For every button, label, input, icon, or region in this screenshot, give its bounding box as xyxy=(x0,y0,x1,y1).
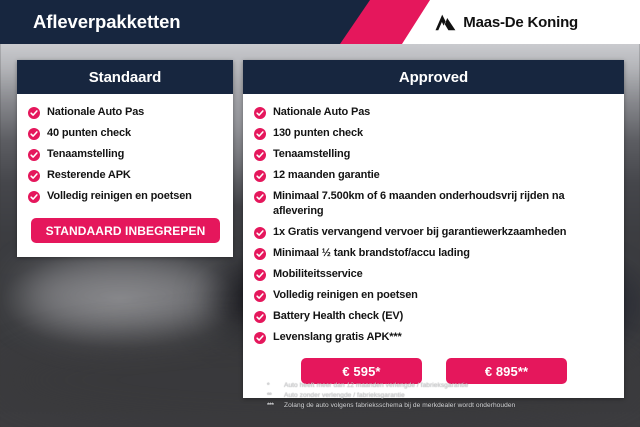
check-circle-icon xyxy=(254,227,266,239)
check-circle-icon xyxy=(254,269,266,281)
check-circle-icon xyxy=(254,311,266,323)
list-item: Tenaamstelling xyxy=(254,147,614,162)
footnote-marker: * xyxy=(267,381,284,391)
card-approved-header: Approved xyxy=(243,60,624,94)
check-circle-icon xyxy=(254,191,266,203)
feature-label: Minimaal 7.500km of 6 maanden onderhouds… xyxy=(273,189,614,219)
standaard-inbegrepen-button[interactable]: STANDAARD INBEGREPEN xyxy=(31,218,220,243)
check-circle-icon xyxy=(254,128,266,140)
brand-name: Maas-De Koning xyxy=(463,14,578,31)
footnotes-block: * Auto heeft meer dan 12 maanden verleng… xyxy=(267,381,627,412)
check-circle-icon xyxy=(28,191,40,203)
feature-label: Resterende APK xyxy=(47,168,131,183)
check-circle-icon xyxy=(254,332,266,344)
list-item: 130 punten check xyxy=(254,126,614,141)
maas-de-koning-m-mark-icon xyxy=(435,14,456,31)
feature-label: Tenaamstelling xyxy=(273,147,350,162)
footnote-marker: ** xyxy=(267,391,284,401)
check-circle-icon xyxy=(28,170,40,182)
card-standaard-body: Nationale Auto Pas 40 punten check Tenaa… xyxy=(17,94,233,257)
feature-label: Mobiliteitsservice xyxy=(273,267,363,282)
feature-label: Minimaal ½ tank brandstof/accu lading xyxy=(273,246,470,261)
feature-label: Volledig reinigen en poetsen xyxy=(273,288,418,303)
feature-label: Nationale Auto Pas xyxy=(273,105,370,120)
list-item: Nationale Auto Pas xyxy=(254,105,614,120)
card-approved: Approved Nationale Auto Pas 130 punten c xyxy=(243,60,624,398)
footnote-triple-asterisk: *** Zolang de auto volgens fabrieksschem… xyxy=(267,401,627,411)
feature-label: 12 maanden garantie xyxy=(273,168,380,183)
page-root: Afleverpakketten Maas-De Koning Standaar… xyxy=(0,0,640,427)
footnote-single-asterisk: * Auto heeft meer dan 12 maanden verleng… xyxy=(267,381,627,391)
list-item: Tenaamstelling xyxy=(28,147,223,162)
list-item: 40 punten check xyxy=(28,126,223,141)
check-circle-icon xyxy=(28,149,40,161)
check-circle-icon xyxy=(254,170,266,182)
feature-label: 1x Gratis vervangend vervoer bij garanti… xyxy=(273,225,566,240)
check-circle-icon xyxy=(28,128,40,140)
list-item: Battery Health check (EV) xyxy=(254,309,614,324)
standaard-feature-list: Nationale Auto Pas 40 punten check Tenaa… xyxy=(28,105,223,204)
list-item: Volledig reinigen en poetsen xyxy=(28,189,223,204)
feature-label: Battery Health check (EV) xyxy=(273,309,403,324)
check-circle-icon xyxy=(254,149,266,161)
footnote-text: Zolang de auto volgens fabrieksschema bi… xyxy=(284,401,627,411)
feature-label: Volledig reinigen en poetsen xyxy=(47,189,192,204)
check-circle-icon xyxy=(28,107,40,119)
list-item: 12 maanden garantie xyxy=(254,168,614,183)
footnote-text: Auto heeft meer dan 12 maanden verlengde… xyxy=(284,381,627,391)
list-item: Mobiliteitsservice xyxy=(254,267,614,282)
list-item: Minimaal ½ tank brandstof/accu lading xyxy=(254,246,614,261)
list-item: Minimaal 7.500km of 6 maanden onderhouds… xyxy=(254,189,614,219)
feature-label: Tenaamstelling xyxy=(47,147,124,162)
card-standaard: Standaard Nationale Auto Pas 40 punten c xyxy=(17,60,233,257)
page-header: Afleverpakketten Maas-De Koning xyxy=(0,0,640,44)
brand-lockup: Maas-De Koning xyxy=(435,0,578,44)
list-item: Nationale Auto Pas xyxy=(28,105,223,120)
list-item: Volledig reinigen en poetsen xyxy=(254,288,614,303)
card-approved-title: Approved xyxy=(399,69,468,86)
card-approved-body: Nationale Auto Pas 130 punten check Tena… xyxy=(243,94,624,398)
feature-label: 40 punten check xyxy=(47,126,131,141)
check-circle-icon xyxy=(254,290,266,302)
footnote-text: Auto zonder verlengde / fabrieksgarantie xyxy=(284,391,627,401)
footnote-double-asterisk: ** Auto zonder verlengde / fabrieksgaran… xyxy=(267,391,627,401)
feature-label: Nationale Auto Pas xyxy=(47,105,144,120)
feature-label: Levenslang gratis APK*** xyxy=(273,330,402,345)
footnote-marker: *** xyxy=(267,401,284,411)
check-circle-icon xyxy=(254,248,266,260)
approved-feature-list: Nationale Auto Pas 130 punten check Tena… xyxy=(254,105,614,345)
check-circle-icon xyxy=(254,107,266,119)
feature-label: 130 punten check xyxy=(273,126,363,141)
list-item: Levenslang gratis APK*** xyxy=(254,330,614,345)
list-item: 1x Gratis vervangend vervoer bij garanti… xyxy=(254,225,614,240)
list-item: Resterende APK xyxy=(28,168,223,183)
page-title: Afleverpakketten xyxy=(33,0,181,44)
card-standaard-title: Standaard xyxy=(89,69,161,86)
card-standaard-header: Standaard xyxy=(17,60,233,94)
standaard-button-wrapper: STANDAARD INBEGREPEN xyxy=(28,218,223,245)
